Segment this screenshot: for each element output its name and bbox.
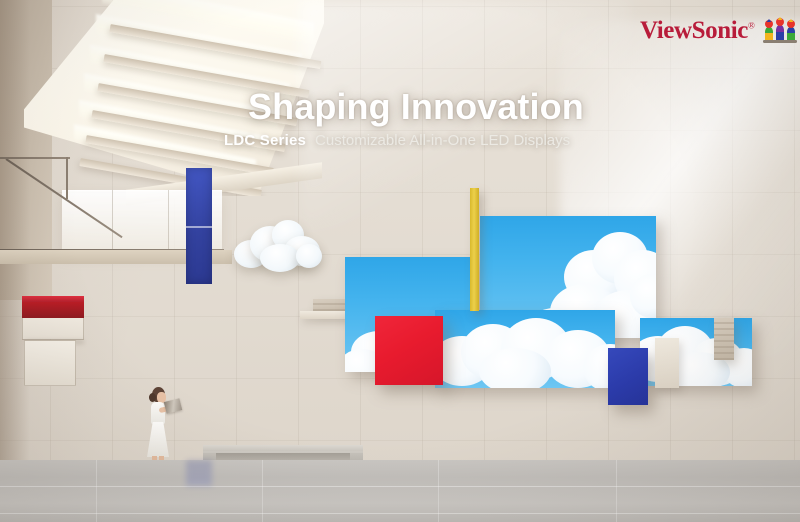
left-niche-lower [24, 340, 76, 386]
left-niche-red-face [22, 296, 84, 302]
brand-wordmark: ViewSonic® [640, 18, 754, 43]
floor-seam [0, 513, 800, 514]
floor-joint [96, 460, 97, 522]
handrail-top [0, 157, 70, 159]
floor-joint [262, 460, 263, 522]
floor-reflection-blue [186, 460, 212, 486]
led-panel-red[interactable] [375, 316, 443, 385]
viewsonic-logo[interactable]: ViewSonic® [640, 16, 799, 44]
viewsonic-three-birds-icon [761, 16, 799, 44]
handrail-post [66, 157, 68, 199]
floor-seam [0, 486, 800, 487]
stone-slab-right [714, 318, 734, 360]
hero-subline: LDC Series Customizable All-in-One LED D… [224, 132, 570, 149]
stone-riser-right [655, 338, 679, 388]
floor-joint [438, 460, 439, 522]
led-panel-blue[interactable] [608, 348, 648, 405]
hero-series-label: LDC Series [224, 132, 306, 149]
hero-headline: Shaping Innovation [248, 86, 584, 128]
balustrade-mullion [112, 190, 113, 252]
balustrade-mullion [168, 190, 169, 252]
left-niche-red-interior [22, 300, 84, 318]
hero-description-label: Customizable All-in-One LED Displays [315, 132, 570, 149]
floor-joint [616, 460, 617, 522]
hero-banner: Shaping Innovation LDC Series Customizab… [0, 0, 800, 522]
trademark-symbol: ® [748, 20, 754, 30]
brand-name: ViewSonic [640, 17, 748, 44]
led-accent-yellow-bar[interactable] [470, 188, 479, 311]
cloud-sculpture [232, 218, 324, 276]
niche-seam [186, 226, 212, 228]
